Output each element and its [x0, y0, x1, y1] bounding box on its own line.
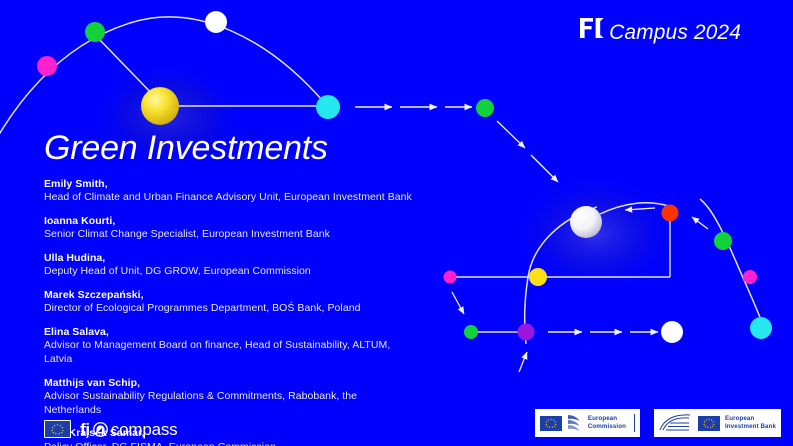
- slide-content: Green Investments Emily Smith,Head of Cl…: [44, 131, 474, 446]
- speaker-role: Advisor to Management Board on finance, …: [44, 339, 416, 366]
- speaker-name: Matthijs van Schip,: [44, 377, 474, 390]
- magenta-node-right: [743, 270, 757, 284]
- ec-emblem-icon: [567, 413, 583, 433]
- up-into-purple-arrow: [519, 352, 527, 372]
- fi-compass-wordmark: fi compass: [80, 421, 177, 438]
- white-node-bottom: [661, 321, 683, 343]
- speaker-role: Advisor Sustainability Regulations & Com…: [44, 390, 416, 417]
- european-investment-bank-logo: European Investment Bank: [654, 409, 781, 437]
- partner-logos: European Commission: [535, 409, 781, 437]
- speaker-item: Marek Szczepański,Director of Ecological…: [44, 289, 474, 316]
- speaker-name: Ulla Hudina,: [44, 252, 474, 265]
- page-title: Green Investments: [44, 131, 474, 167]
- compass-text: compass: [111, 421, 178, 438]
- speaker-item: Ioanna Kourti,Senior Climat Change Speci…: [44, 215, 474, 242]
- purple-node: [518, 324, 535, 341]
- white-sphere-glow: [510, 172, 682, 296]
- cyan-node-right: [750, 317, 772, 339]
- speaker-role: Deputy Head of Unit, DG GROW, European C…: [44, 265, 416, 279]
- white-node: [205, 11, 227, 33]
- speaker-name: Ioanna Kourti,: [44, 215, 474, 228]
- yellow-node: [529, 268, 547, 286]
- speaker-item: Emily Smith,Head of Climate and Urban Fi…: [44, 178, 474, 205]
- diag-arrow-2: [531, 155, 558, 182]
- right-inner-arc: [525, 207, 597, 344]
- speaker-item: Elina Salava,Advisor to Management Board…: [44, 326, 474, 367]
- eib-emblem-icon: [659, 413, 693, 433]
- speaker-item: Matthijs van Schip,Advisor Sustainabilit…: [44, 377, 474, 418]
- red-node: [662, 205, 679, 222]
- green-to-red-arrow: [692, 217, 708, 229]
- white-sphere: [570, 206, 602, 238]
- speaker-item: Ulla Hudina,Deputy Head of Unit, DG GROW…: [44, 252, 474, 279]
- magenta-node: [37, 56, 57, 76]
- speaker-name: Elina Salava,: [44, 326, 474, 339]
- ec-divider: [634, 414, 635, 432]
- speaker-role: Senior Climat Change Specialist, Europea…: [44, 228, 416, 242]
- eib-label: European Investment Bank: [725, 415, 776, 431]
- speaker-role: Head of Climate and Urban Finance Adviso…: [44, 191, 416, 205]
- right-outer-arc: [700, 199, 761, 320]
- white-to-red-arc: [600, 203, 668, 214]
- fi-text: fi: [80, 421, 90, 438]
- red-to-white-arrow: [625, 208, 655, 210]
- speaker-role: Director of Ecological Programmes Depart…: [44, 302, 416, 316]
- european-commission-logo: European Commission: [535, 409, 640, 437]
- brand-text: Campus 2024: [609, 22, 741, 43]
- fi-monogram-icon: [578, 17, 604, 39]
- fi-compass-logo: fi compass: [44, 420, 177, 438]
- cyan-node: [316, 95, 340, 119]
- eib-flag-icon: [698, 416, 720, 431]
- presentation-slide: Campus 2024 Green Investments Emily Smit…: [0, 0, 793, 446]
- eu-stars-icon: [45, 421, 70, 438]
- eu-flag-icon: [44, 420, 71, 438]
- speaker-name: Marek Szczepański,: [44, 289, 474, 302]
- speaker-list: Emily Smith,Head of Climate and Urban Fi…: [44, 178, 474, 446]
- green-node-mid: [476, 99, 494, 117]
- ec-label: European Commission: [588, 415, 626, 431]
- diag-arrow-1: [497, 121, 525, 148]
- eib-stars-icon: [698, 416, 720, 431]
- green-node-right: [714, 232, 732, 250]
- ec-stars-icon: [540, 416, 562, 431]
- ec-flag-icon: [540, 416, 562, 431]
- brand-logo: Campus 2024: [578, 17, 741, 43]
- speaker-role: Policy Officer, DG FISMA, European Commi…: [44, 441, 416, 446]
- compass-icon: [93, 422, 108, 437]
- speaker-name: Emily Smith,: [44, 178, 474, 191]
- green-node: [85, 22, 105, 42]
- yellow-sphere: [141, 87, 179, 125]
- green-to-yellow-link: [98, 38, 158, 100]
